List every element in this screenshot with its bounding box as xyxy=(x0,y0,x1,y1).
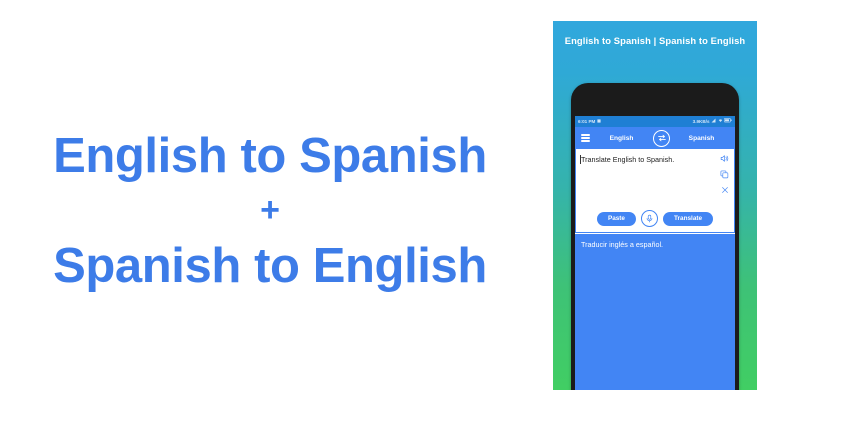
notification-icon xyxy=(597,119,601,125)
source-text-tools xyxy=(720,154,729,194)
wifi-icon xyxy=(718,118,723,125)
source-text-area[interactable]: Translate English to Spanish. xyxy=(575,149,735,233)
phone-screen: 6:01 PM 3.9KB/s xyxy=(575,116,735,390)
translate-button[interactable]: Translate xyxy=(663,212,713,226)
source-language-label[interactable]: English xyxy=(594,135,649,142)
source-text-value: Translate English to Spanish. xyxy=(581,155,697,164)
headline-line-1: English to Spanish xyxy=(53,127,487,187)
action-button-row: Paste Translate xyxy=(576,210,734,227)
clear-icon[interactable] xyxy=(721,186,729,194)
network-speed-label: 3.9KB/s xyxy=(693,119,710,124)
microphone-icon[interactable] xyxy=(641,210,658,227)
status-time: 6:01 PM xyxy=(578,119,595,124)
signal-icon xyxy=(711,118,716,125)
target-language-label[interactable]: Spanish xyxy=(674,135,729,142)
swap-languages-icon[interactable] xyxy=(653,130,670,147)
battery-icon xyxy=(724,118,732,124)
paste-button[interactable]: Paste xyxy=(597,212,636,226)
app-promo-panel: English to Spanish | Spanish to English … xyxy=(553,21,757,390)
app-bar: English Spanish xyxy=(575,127,735,149)
headline-area: English to Spanish + Spanish to English xyxy=(0,0,540,424)
headline-line-2: Spanish to English xyxy=(53,237,487,297)
copy-icon[interactable] xyxy=(720,170,729,179)
translated-text-area[interactable]: Traducir inglés a español. xyxy=(575,233,735,390)
speaker-icon[interactable] xyxy=(720,154,729,163)
translated-text-value: Traducir inglés a español. xyxy=(581,240,727,249)
status-bar: 6:01 PM 3.9KB/s xyxy=(575,116,735,127)
status-bar-right: 3.9KB/s xyxy=(693,118,732,125)
hamburger-menu-icon[interactable] xyxy=(581,134,590,141)
headline-plus-sign: + xyxy=(260,187,280,237)
phone-mockup: 6:01 PM 3.9KB/s xyxy=(571,83,739,390)
promo-title: English to Spanish | Spanish to English xyxy=(553,35,757,46)
status-bar-left: 6:01 PM xyxy=(578,119,601,125)
